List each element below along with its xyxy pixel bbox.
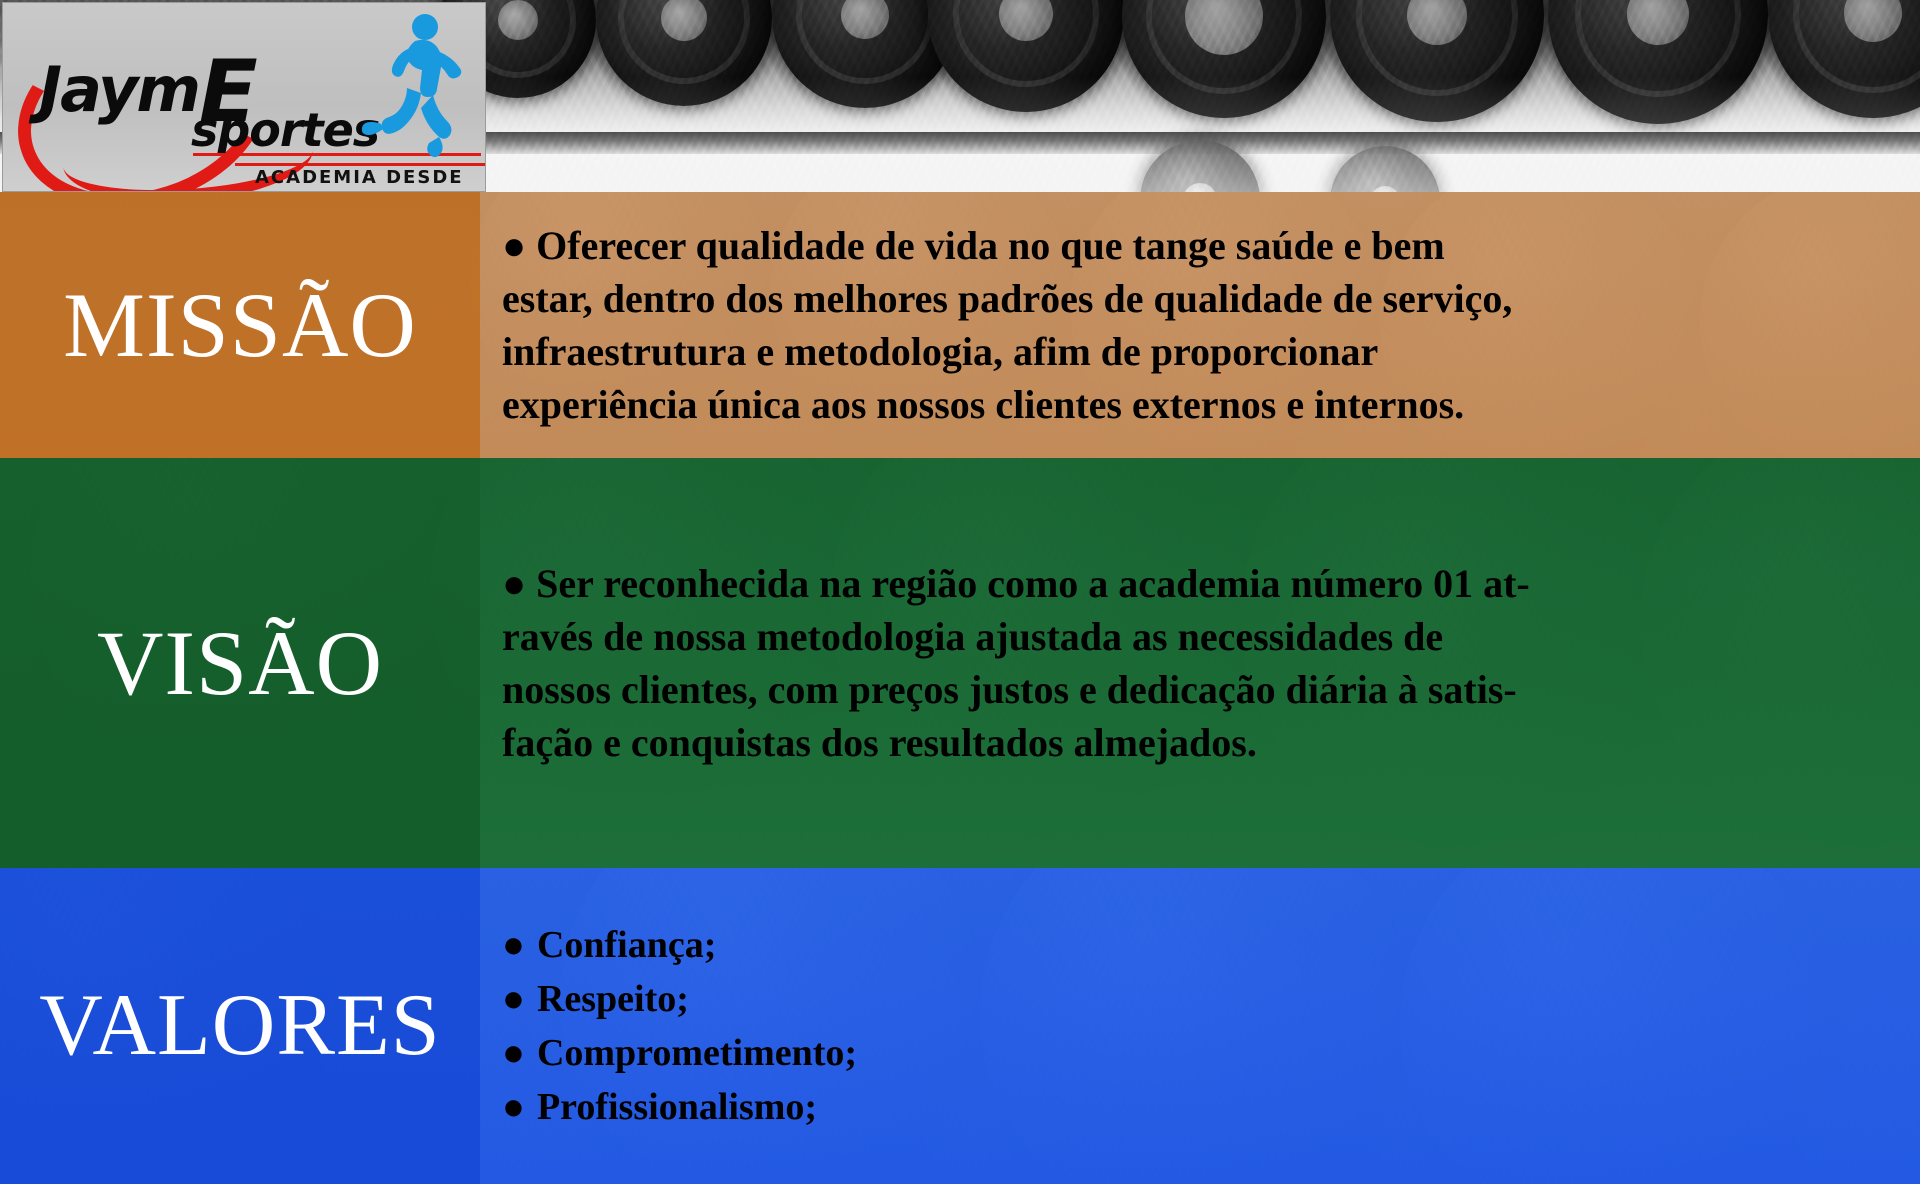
vision-label-text: VISÃO	[97, 617, 383, 709]
header-photo-banner: JaymE sportes ACADEMIA DESDE 1990	[0, 0, 1920, 192]
vision-paragraph-line: nossos clientes, com preços justos e ded…	[502, 663, 1902, 716]
list-item: ●Respeito;	[502, 972, 1902, 1026]
value-item-text: Profissionalismo;	[537, 1086, 817, 1128]
bullet-icon: ●	[502, 972, 525, 1026]
value-item-text: Comprometimento;	[537, 1032, 857, 1074]
mission-paragraph-line: estar, dentro dos melhores padrões de qu…	[502, 272, 1902, 325]
mission-label-text: MISSÃO	[63, 279, 417, 371]
slide-canvas: JaymE sportes ACADEMIA DESDE 1990	[0, 0, 1920, 1184]
values-list: ●Confiança; ●Respeito; ●Comprometimento;…	[502, 918, 1902, 1134]
mission-label: MISSÃO	[0, 192, 480, 458]
logo-text-jayme: Jaym	[39, 53, 199, 126]
section-vision: VISÃO ● Ser reconhecida na região como a…	[0, 458, 1920, 868]
vision-text-column: ● Ser reconhecida na região como a acade…	[480, 458, 1920, 868]
list-item: ●Profissionalismo;	[502, 1080, 1902, 1134]
logo-card[interactable]: JaymE sportes ACADEMIA DESDE 1990	[2, 2, 486, 192]
vision-label: VISÃO	[0, 458, 480, 868]
section-mission: MISSÃO ● Oferecer qualidade de vida no q…	[0, 192, 1920, 458]
values-label-text: VALORES	[39, 982, 440, 1070]
mission-paragraph-line: ● Oferecer qualidade de vida no que tang…	[502, 219, 1902, 272]
vision-paragraph-line: ravés de nossa metodologia ajustada as n…	[502, 610, 1902, 663]
mission-text-column: ● Oferecer qualidade de vida no que tang…	[480, 192, 1920, 458]
vision-paragraph-line: fação e conquistas dos resultados almeja…	[502, 716, 1902, 769]
vision-paragraph-line: ● Ser reconhecida na região como a acade…	[502, 557, 1902, 610]
list-item: ●Confiança;	[502, 918, 1902, 972]
runner-icon	[357, 11, 467, 171]
values-text-column: ●Confiança; ●Respeito; ●Comprometimento;…	[480, 868, 1920, 1184]
list-item: ●Comprometimento;	[502, 1026, 1902, 1080]
value-item-text: Respeito;	[537, 978, 689, 1020]
section-values: VALORES ●Confiança; ●Respeito; ●Comprome…	[0, 868, 1920, 1184]
bullet-icon: ●	[502, 1026, 525, 1080]
bullet-icon: ●	[502, 918, 525, 972]
value-item-text: Confiança;	[537, 924, 716, 966]
mission-paragraph-line: experiência única aos nossos clientes ex…	[502, 378, 1902, 431]
mission-paragraph-line: infraestrutura e metodologia, afim de pr…	[502, 325, 1902, 378]
values-label: VALORES	[0, 868, 480, 1184]
bullet-icon: ●	[502, 1080, 525, 1134]
logo-text-sportes: sportes	[191, 103, 379, 157]
